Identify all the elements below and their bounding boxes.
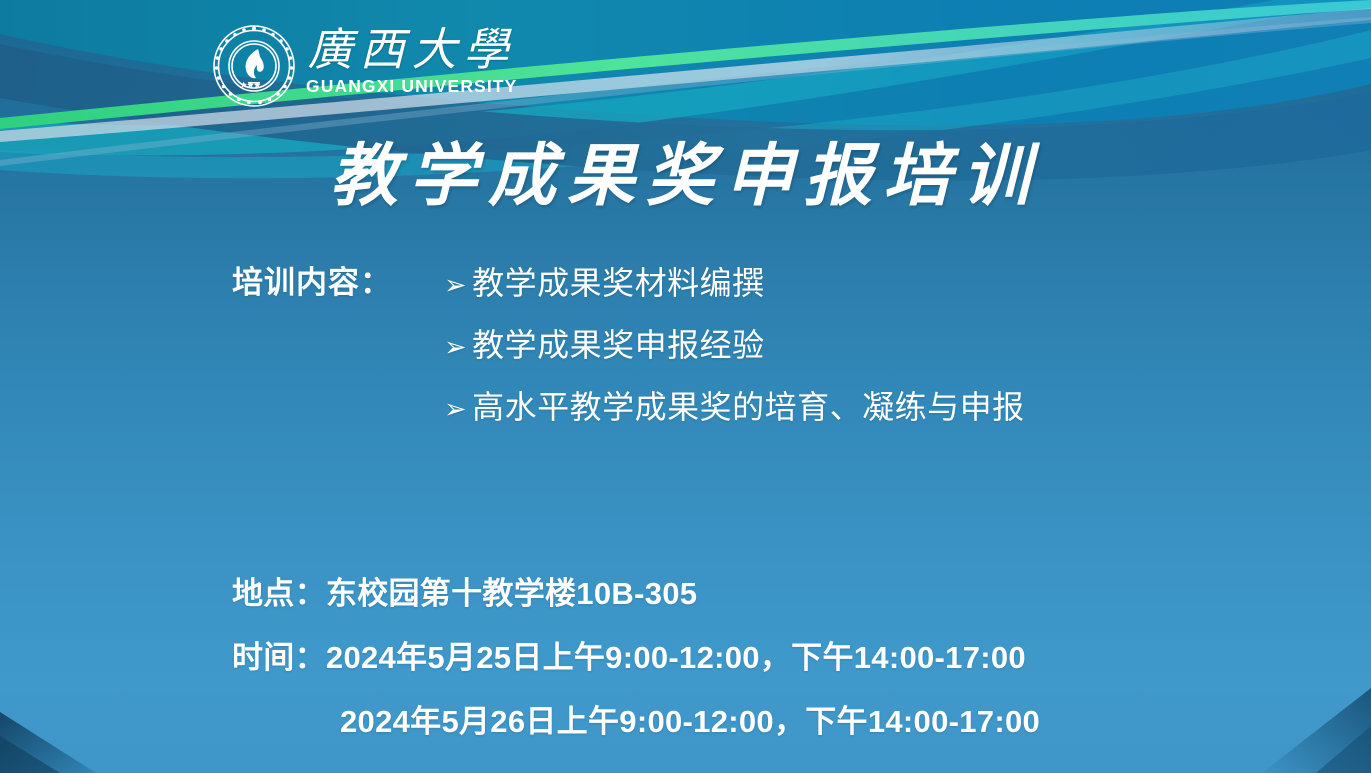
arrow-bullet-icon: ➢	[444, 264, 467, 306]
guangxi-university-seal-icon	[212, 24, 296, 108]
bullet-item-3: ➢ 高水平教学成果奖的培育、凝练与申报	[444, 386, 1025, 430]
page-title: 教学成果奖申报培训	[0, 134, 1371, 218]
university-logo: 廣西大學 GUANGXI UNIVERSITY	[212, 24, 517, 116]
time-line-2: 2024年5月26日上午9:00-12:00，下午14:00-17:00	[232, 690, 1282, 754]
bullet-item-2-text: 教学成果奖申报经验	[472, 324, 765, 366]
logo-wordmark: 廣西大學 GUANGXI UNIVERSITY	[306, 24, 517, 97]
arrow-bullet-icon: ➢	[444, 326, 467, 368]
bullet-item-3-text: 高水平教学成果奖的培育、凝练与申报	[472, 386, 1025, 428]
arrow-bullet-icon: ➢	[444, 388, 467, 430]
location-line: 地点：东校园第十教学楼10B-305	[232, 562, 1282, 626]
bullet-item-1-text: 教学成果奖材料编撰	[472, 262, 765, 304]
bullet-item-2: ➢ 教学成果奖申报经验	[444, 324, 765, 368]
event-info-section: 地点：东校园第十教学楼10B-305 时间：2024年5月25日上午9:00-1…	[232, 562, 1282, 754]
bullet-item-1: ➢ 教学成果奖材料编撰	[444, 262, 765, 306]
content-row-2: ➢ 教学成果奖申报经验	[232, 324, 1232, 386]
time-line-1: 时间：2024年5月25日上午9:00-12:00，下午14:00-17:00	[232, 626, 1282, 690]
logo-english-name: GUANGXI UNIVERSITY	[306, 76, 517, 97]
content-row-1: 培训内容： ➢ 教学成果奖材料编撰	[232, 262, 1232, 324]
presentation-slide: 廣西大學 GUANGXI UNIVERSITY 教学成果奖申报培训 培训内容： …	[0, 0, 1371, 773]
logo-chinese-name: 廣西大學	[308, 28, 516, 73]
content-row-3: ➢ 高水平教学成果奖的培育、凝练与申报	[232, 386, 1232, 448]
training-content-section: 培训内容： ➢ 教学成果奖材料编撰 ➢ 教学成果奖申报经验 ➢ 高水平教学成果奖…	[232, 262, 1232, 448]
content-label: 培训内容：	[232, 262, 444, 304]
